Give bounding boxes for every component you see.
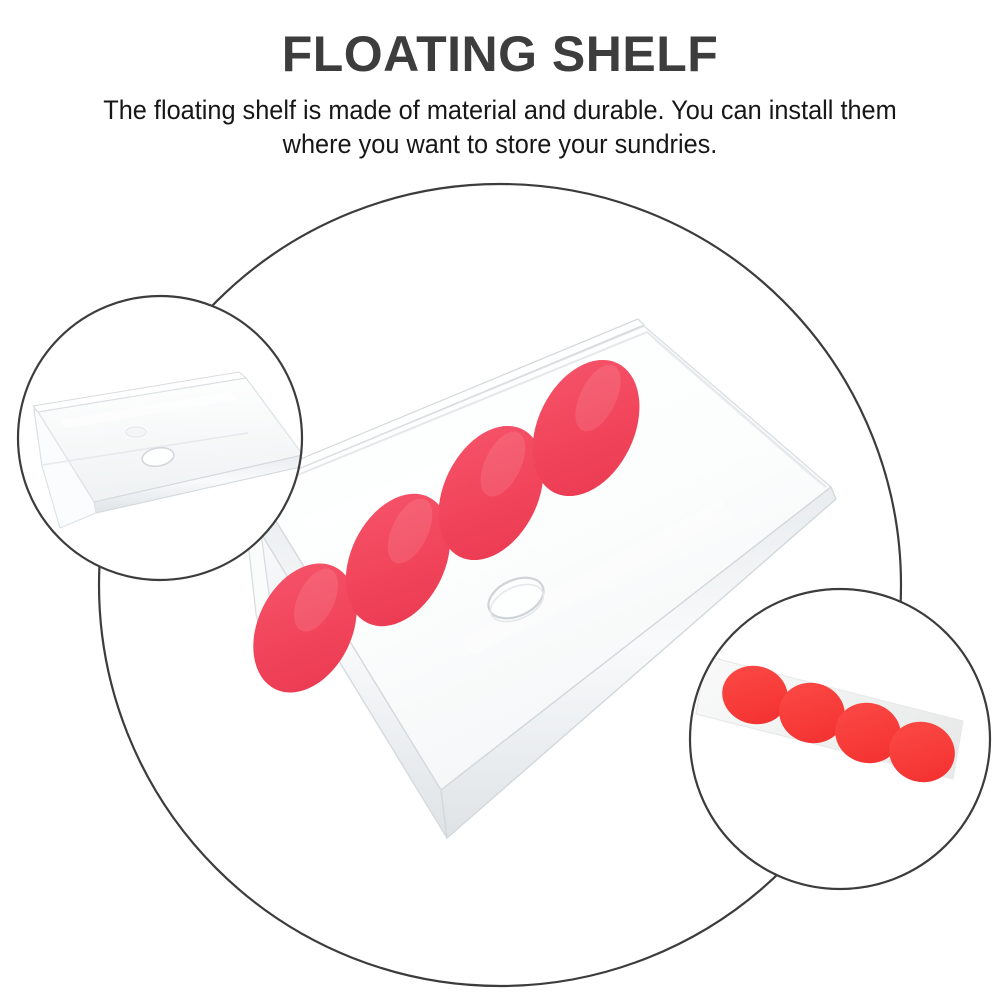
product-marketing-page: FLOATING SHELF The floating shelf is mad… — [0, 0, 1000, 1000]
product-illustration — [0, 0, 1000, 1000]
illustration-canvas — [0, 0, 1000, 1000]
detail-mount-notch — [126, 427, 146, 437]
